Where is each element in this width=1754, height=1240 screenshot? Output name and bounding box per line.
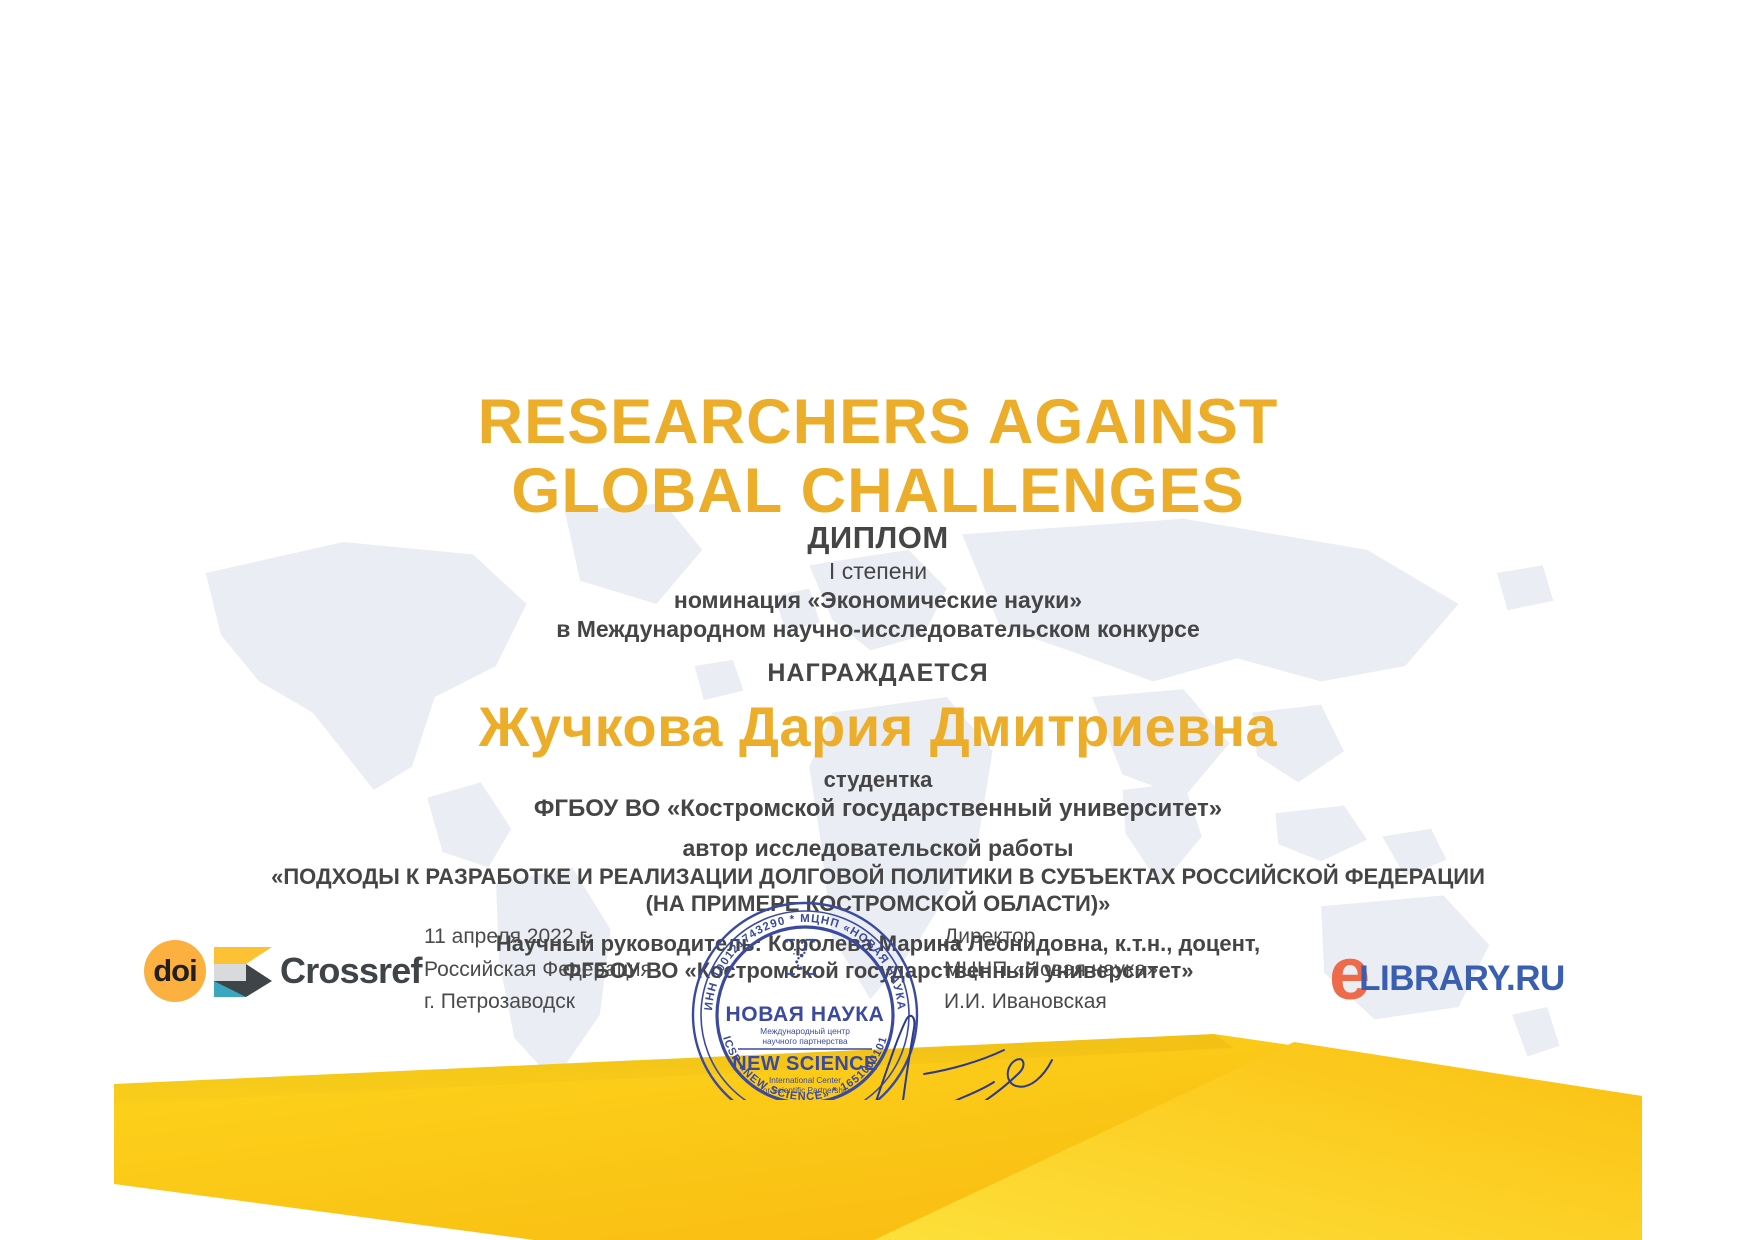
diploma-contest: в Международном научно-исследовательском… bbox=[114, 616, 1642, 643]
logo-title: NEW SCIENCE bbox=[1168, 224, 1452, 264]
seal-sub-ru-2: научного партнерства bbox=[762, 1036, 848, 1046]
diploma-degree: I степени bbox=[114, 558, 1642, 585]
elibrary-logo: e LIBRARY.RU bbox=[1329, 945, 1565, 1003]
director-organization: МЦНП «Новая наука» bbox=[944, 954, 1158, 987]
recipient-name: Жучкова Дария Дмитриевна bbox=[114, 694, 1642, 759]
logo-subtitle-line2: for Scientific Partnership bbox=[1168, 282, 1452, 301]
doi-badge-icon: doi bbox=[144, 940, 206, 1002]
logo-subtitle-line1: International Center bbox=[1168, 263, 1452, 282]
awarded-label: НАГРАЖДАЕТСЯ bbox=[114, 659, 1642, 688]
headline-line-2: GLOBAL CHALLENGES bbox=[114, 457, 1642, 526]
issue-city: г. Петрозаводск bbox=[424, 986, 652, 1019]
doi-crossref-logo: doi Crossref bbox=[144, 940, 422, 1002]
issue-date: 11 апреля 2022 г. bbox=[424, 921, 652, 954]
work-title-line-1: «ПОДХОДЫ К РАЗРАБОТКЕ И РЕАЛИЗАЦИИ ДОЛГО… bbox=[114, 864, 1642, 891]
issue-country: Российская Федерация bbox=[424, 954, 652, 987]
certificate-sheet: NEW SCIENCE International Center for Sci… bbox=[114, 150, 1642, 1100]
director-signature bbox=[854, 990, 1074, 1100]
diploma-label: ДИПЛОМ bbox=[114, 520, 1642, 556]
elibrary-wordmark: LIBRARY.RU bbox=[1359, 959, 1565, 1003]
new-science-logo: NEW SCIENCE International Center for Sci… bbox=[1082, 220, 1452, 304]
certificate-headline: RESEARCHERS AGAINST GLOBAL CHALLENGES bbox=[114, 388, 1642, 527]
headline-line-1: RESEARCHERS AGAINST bbox=[114, 388, 1642, 457]
crossref-wordmark: Crossref bbox=[280, 950, 422, 992]
crossref-mark-icon bbox=[212, 943, 274, 999]
issue-details: 11 апреля 2022 г. Российская Федерация г… bbox=[424, 921, 652, 1019]
seal-sub-ru-1: Международный центр bbox=[760, 1026, 850, 1036]
diploma-nomination: номинация «Экономические науки» bbox=[114, 587, 1642, 614]
seal-sub-en-1: International Center bbox=[769, 1076, 841, 1085]
author-of-label: автор исследовательской работы bbox=[114, 835, 1642, 862]
new-science-mark-icon bbox=[1082, 220, 1150, 304]
seal-sub-en-2: for Scientific Partnership bbox=[761, 1086, 850, 1095]
certificate-page: NEW SCIENCE International Center for Sci… bbox=[0, 0, 1754, 1240]
recipient-organization: ФГБОУ ВО «Костромской государственный ун… bbox=[114, 795, 1642, 823]
recipient-role: студентка bbox=[114, 767, 1642, 793]
director-label: Директор bbox=[944, 921, 1158, 954]
seal-mark-icon bbox=[787, 940, 814, 974]
